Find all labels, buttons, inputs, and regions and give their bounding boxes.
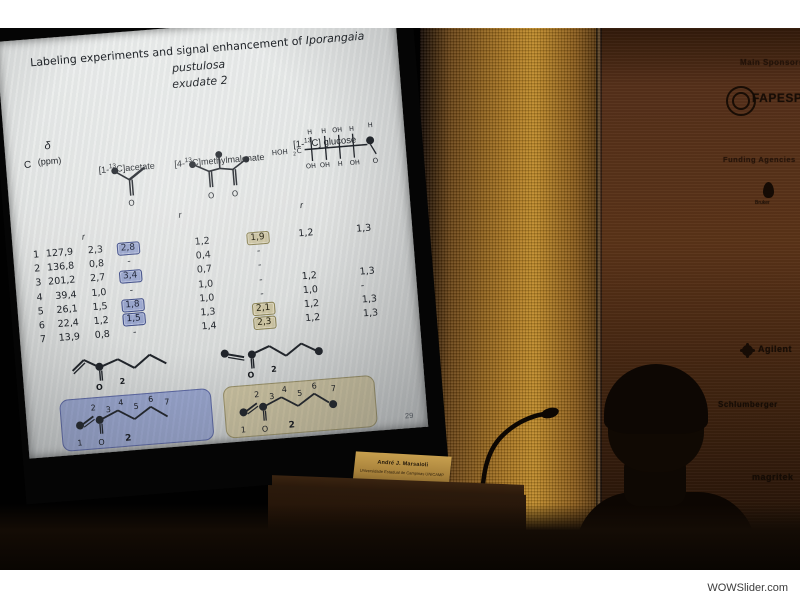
cell-acetate-enh: 1,8 xyxy=(119,298,146,313)
svg-text:6: 6 xyxy=(148,395,154,404)
svg-text:1: 1 xyxy=(241,425,247,434)
cell-glucose-r: 1,2 xyxy=(301,269,324,282)
bruker-flame-icon xyxy=(763,182,774,198)
cell-malonate-r: 1,4 xyxy=(201,320,224,333)
highlight-chip: 2,1 xyxy=(251,301,275,316)
svg-text:O: O xyxy=(262,424,269,433)
cell-ppm: 201,2 xyxy=(47,275,76,288)
highlight-chip: 2,8 xyxy=(116,241,140,256)
svg-text:2: 2 xyxy=(254,390,260,399)
cell-acetate-enh: 2,8 xyxy=(115,241,142,256)
svg-text:O: O xyxy=(98,438,105,447)
molecule-card-tan: 1 2 3 4 5 6 7 O 2 xyxy=(222,375,378,439)
sponsor-magritek-label: magritek xyxy=(752,472,794,482)
header-delta: δ xyxy=(44,140,51,152)
cell-malonate-r: 0,7 xyxy=(197,263,220,276)
cell-acetate-enh: - xyxy=(118,283,145,296)
cell-malonate-r: 0,4 xyxy=(195,249,218,262)
svg-text:OH: OH xyxy=(320,161,331,170)
highlight-chip: 1,5 xyxy=(122,312,146,327)
svg-text:O: O xyxy=(372,157,379,165)
highlight-chip: 3,4 xyxy=(118,269,142,284)
table-row: 6 22,4 1,2 1,5 1,3 2,1 1,2 1,3 xyxy=(32,321,33,335)
cell-acetate-r: 1,0 xyxy=(84,287,107,300)
skeleton-structure-acetate: O 2 xyxy=(67,346,189,390)
sponsor-bruker-label: Bruker xyxy=(755,200,770,206)
cell-glucose-r: 1,2 xyxy=(305,311,328,324)
highlight-chip: 1,8 xyxy=(121,298,145,313)
speaker-hair xyxy=(604,364,708,434)
svg-text:7: 7 xyxy=(164,397,170,406)
header-ppm-unit: (ppm) xyxy=(37,155,61,167)
svg-text:6: 6 xyxy=(311,381,317,390)
cell-malonate-enh: - xyxy=(248,273,275,286)
svg-text:4: 4 xyxy=(118,398,124,407)
cell-glucose-enh xyxy=(358,250,380,252)
svg-text:H: H xyxy=(338,160,344,168)
cell-glucose-r xyxy=(299,241,321,243)
cell-acetate-r: 0,8 xyxy=(87,329,110,342)
cell-acetate-r: 1,2 xyxy=(86,315,109,328)
svg-text:3: 3 xyxy=(269,392,275,401)
r-marker-acetate: r xyxy=(81,232,85,242)
svg-text:OH: OH xyxy=(332,126,343,135)
letterbox-bottom xyxy=(0,570,800,600)
cell-carbon-index: 3 xyxy=(29,278,42,290)
svg-text:H: H xyxy=(349,125,355,133)
cell-malonate-r: 1,3 xyxy=(200,306,223,319)
r-marker-malonate: r xyxy=(178,210,182,220)
svg-text:C: C xyxy=(296,147,302,155)
sponsor-fapesp-label: FAPESP xyxy=(752,91,800,105)
cell-acetate-r: 0,8 xyxy=(82,258,105,271)
cell-acetate-r: 2,7 xyxy=(83,272,106,285)
banner-heading: Main Sponsors xyxy=(740,58,800,67)
svg-text:O: O xyxy=(208,191,215,200)
cell-glucose-enh: 1,3 xyxy=(363,307,386,320)
cell-ppm: 127,9 xyxy=(45,247,74,260)
cell-glucose-enh: 1,3 xyxy=(356,222,379,235)
svg-text:2: 2 xyxy=(125,433,132,443)
malonate-prefix: [4- xyxy=(174,158,185,169)
cell-acetate-enh: - xyxy=(121,326,148,339)
slide-title-text: Labeling experiments and signal enhancem… xyxy=(30,34,307,69)
projection-screen-wrapper: Labeling experiments and signal enhancem… xyxy=(0,14,418,514)
foreground-floor xyxy=(0,504,800,570)
table-row: 5 26,1 1,5 1,8 1,0 - 1,0 - xyxy=(31,307,32,321)
header-carbon: C xyxy=(24,160,32,172)
cell-glucose-enh: 1,3 xyxy=(361,293,384,306)
svg-text:1: 1 xyxy=(77,438,83,447)
cell-acetate-enh: 1,5 xyxy=(120,312,147,327)
svg-text:HOH: HOH xyxy=(271,148,288,157)
svg-text:OH: OH xyxy=(350,158,361,167)
svg-text:H: H xyxy=(307,128,313,136)
molecule-o-label: O xyxy=(247,370,255,380)
svg-text:O: O xyxy=(128,198,135,207)
table-row: 1 127,9 2,3 2,8 1,2 1,9 1,2 1,3 xyxy=(27,250,28,264)
svg-text:5: 5 xyxy=(133,402,139,411)
cell-malonate-r: 1,0 xyxy=(199,292,222,305)
svg-text:2: 2 xyxy=(90,403,96,412)
cell-malonate-enh: 1,9 xyxy=(244,231,271,246)
highlight-chip: 1,9 xyxy=(246,231,270,246)
cell-malonate-enh: - xyxy=(245,245,272,258)
acetate-structure: O xyxy=(106,159,162,209)
wowslider-watermark: WOWSlider.com xyxy=(707,582,788,594)
table-row: 7 13,9 0,8 - 1,4 2,3 1,2 1,3 xyxy=(34,335,35,349)
svg-text:5: 5 xyxy=(297,389,303,398)
highlight-chip: 2,3 xyxy=(252,316,276,331)
cell-malonate-r: 1,2 xyxy=(194,235,217,248)
cell-glucose-enh: 1,3 xyxy=(359,264,382,277)
skeleton-structure-malonate: O 2 xyxy=(219,333,341,377)
svg-text:4: 4 xyxy=(281,385,287,394)
svg-text:3: 3 xyxy=(105,405,111,414)
table-row: 4 39,4 1,0 - 1,0 - 1,2 1,3 xyxy=(30,293,31,307)
molecule-c2-label: 2 xyxy=(271,365,277,374)
nmr-data-table: 1 127,9 2,3 2,8 1,2 1,9 1,2 1,3 2 136,8 … xyxy=(27,250,35,349)
molecule-card-blue: 1 2 3 4 5 6 7 O 2 xyxy=(59,388,215,452)
cell-glucose-r: 1,2 xyxy=(298,227,321,240)
cell-glucose-enh xyxy=(357,236,379,238)
agilent-sun-icon xyxy=(742,345,753,356)
cell-carbon-index: 4 xyxy=(30,292,43,304)
cell-carbon-index: 1 xyxy=(27,249,40,261)
cell-glucose-enh: - xyxy=(360,279,383,292)
cell-ppm: 13,9 xyxy=(52,331,81,344)
svg-text:2: 2 xyxy=(288,420,295,430)
presentation-slide: Labeling experiments and signal enhancem… xyxy=(0,10,428,459)
cell-carbon-index: 5 xyxy=(31,306,44,318)
projection-screen: Labeling experiments and signal enhancem… xyxy=(0,10,428,459)
cell-acetate-r: 1,5 xyxy=(85,301,108,314)
cell-ppm: 22,4 xyxy=(50,317,79,330)
cell-malonate-enh: - xyxy=(249,287,276,300)
cell-malonate-enh: 2,3 xyxy=(251,315,278,330)
cell-malonate-enh: - xyxy=(246,259,273,272)
cell-carbon-index: 2 xyxy=(28,263,41,275)
svg-text:7: 7 xyxy=(331,384,337,393)
cell-carbon-index: 6 xyxy=(32,320,45,332)
cell-malonate-enh: 2,1 xyxy=(250,301,277,316)
cell-acetate-enh: - xyxy=(116,255,143,268)
svg-text:O: O xyxy=(232,189,239,198)
funding-agencies-note: Funding Agencies xyxy=(723,155,796,164)
table-row: 2 136,8 0,8 - 0,4 - xyxy=(28,264,29,278)
cell-ppm: 26,1 xyxy=(49,303,78,316)
cell-acetate-r: 2,3 xyxy=(81,244,104,257)
r-marker-glucose: r xyxy=(300,200,304,210)
cell-glucose-r xyxy=(300,255,322,257)
cell-glucose-r: 1,0 xyxy=(302,283,325,296)
sponsor-schlumberger-label: Schlumberger xyxy=(718,400,778,409)
molecule-c2-label: 2 xyxy=(119,377,125,386)
svg-text:H: H xyxy=(321,127,327,135)
letterbox-top xyxy=(0,0,800,28)
cell-glucose-r: 1,2 xyxy=(304,297,327,310)
cell-acetate-enh: 3,4 xyxy=(117,269,144,284)
svg-text:H: H xyxy=(368,121,374,129)
svg-text:OH: OH xyxy=(306,162,317,171)
sponsor-agilent-label: Agilent xyxy=(758,344,792,354)
molecule-o-label: O xyxy=(96,383,104,393)
table-row: 3 201,2 2,7 3,4 0,7 - xyxy=(29,278,30,292)
cell-malonate-r: 1,0 xyxy=(198,277,221,290)
nameplate-affiliation: Universidade Estadual de Campinas UNICAM… xyxy=(354,467,450,478)
cell-ppm: 136,8 xyxy=(46,261,75,274)
glucose-structure: HOH 2 C H H OH H H OH OH xyxy=(269,115,385,180)
slide-number: 29 xyxy=(405,411,414,421)
conference-photo: PETROBRAS Main Sponsors FAPESP Funding A… xyxy=(0,0,800,600)
methylmalonate-structure: O O xyxy=(185,144,255,205)
cell-ppm: 39,4 xyxy=(48,289,77,302)
cell-carbon-index: 7 xyxy=(34,334,47,346)
